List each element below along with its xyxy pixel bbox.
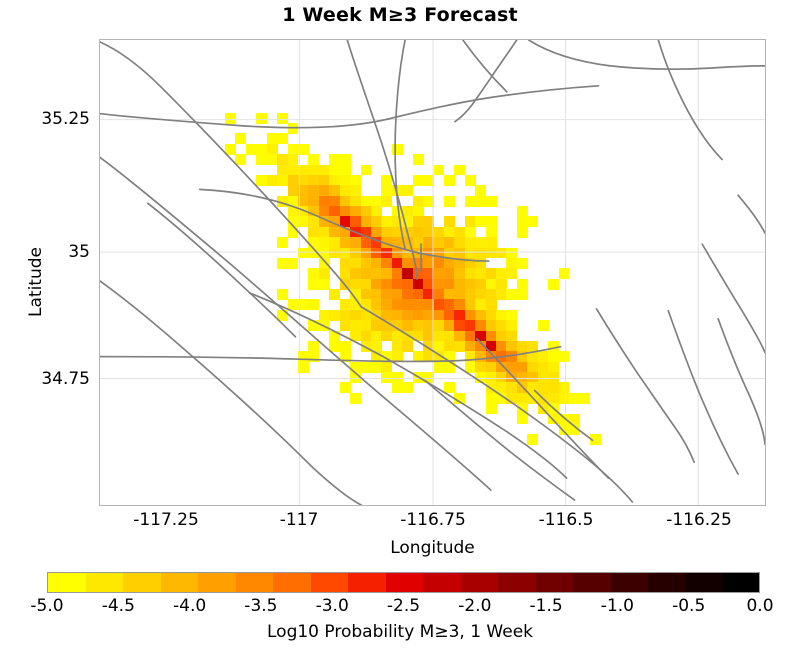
colorbar-segment — [498, 573, 536, 592]
forecast-figure: 1 Week M≥3 Forecast — [0, 0, 800, 655]
xtick-0: -117.25 — [133, 510, 199, 530]
colorbar-segment — [161, 573, 199, 592]
colorbar-segment — [686, 573, 724, 592]
colorbar-tick-6: -2.0 — [458, 596, 491, 616]
y-axis-label: Latitude — [26, 222, 46, 342]
colorbar-tick-8: -1.0 — [601, 596, 634, 616]
colorbar-segment — [423, 573, 461, 592]
colorbar-segment — [461, 573, 499, 592]
colorbar-segment — [198, 573, 236, 592]
colorbar-tick-1: -4.5 — [102, 596, 135, 616]
colorbar-segment — [573, 573, 611, 592]
heatmap-plot-area — [99, 39, 766, 506]
colorbar-segment — [648, 573, 686, 592]
ytick-1: 35 — [10, 242, 90, 262]
colorbar-segment — [236, 573, 274, 592]
ytick-0: 35.25 — [10, 109, 90, 129]
colorbar-segment — [536, 573, 574, 592]
xtick-4: -116.25 — [666, 510, 732, 530]
colorbar-tick-10: 0.0 — [746, 596, 773, 616]
colorbar-tick-3: -3.5 — [244, 596, 277, 616]
colorbar-segment — [311, 573, 349, 592]
colorbar-tick-9: -0.5 — [672, 596, 705, 616]
colorbar-tick-0: -5.0 — [30, 596, 63, 616]
xtick-1: -117 — [280, 510, 319, 530]
colorbar-tick-2: -4.0 — [173, 596, 206, 616]
x-axis-label: Longitude — [99, 538, 766, 558]
xtick-3: -116.5 — [539, 510, 594, 530]
colorbar-segment — [611, 573, 649, 592]
colorbar-tick-4: -3.0 — [316, 596, 349, 616]
colorbar-segment — [723, 573, 760, 592]
fault-lines-layer — [100, 40, 765, 505]
colorbar-segment — [386, 573, 424, 592]
xtick-2: -116.75 — [400, 510, 466, 530]
colorbar-tick-7: -1.5 — [530, 596, 563, 616]
colorbar-tick-5: -2.5 — [387, 596, 420, 616]
colorbar-segment — [48, 573, 86, 592]
colorbar-segment — [86, 573, 124, 592]
colorbar-segment — [348, 573, 386, 592]
ytick-2: 34.75 — [10, 369, 90, 389]
chart-title: 1 Week M≥3 Forecast — [0, 4, 800, 26]
colorbar — [47, 572, 760, 593]
colorbar-segment — [123, 573, 161, 592]
colorbar-segment — [273, 573, 311, 592]
colorbar-label: Log10 Probability M≥3, 1 Week — [0, 622, 800, 642]
